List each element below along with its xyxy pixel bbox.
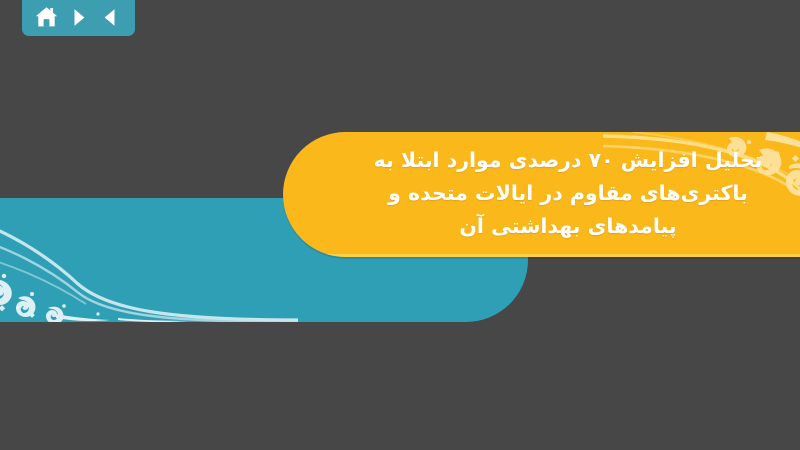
slide-title: تحلیل افزایش ۷۰ درصدی موارد ابتلا به باک…: [283, 132, 800, 257]
previous-arrow-icon: [100, 7, 121, 28]
home-icon: [35, 6, 58, 28]
title-line-2: باکتری‌های مقاوم در ایالات متحده و: [388, 177, 748, 210]
arabesque-ornament-icon: [0, 210, 300, 322]
home-button[interactable]: [35, 5, 59, 29]
title-line-3: پیامدهای بهداشتی آن: [459, 210, 676, 243]
navigation-bar: [22, 0, 135, 36]
next-arrow-icon: [68, 7, 89, 28]
title-line-1: تحلیل افزایش ۷۰ درصدی موارد ابتلا به: [374, 144, 763, 177]
back-button[interactable]: [98, 5, 122, 29]
presentation-slide: تحلیل افزایش ۷۰ درصدی موارد ابتلا به باک…: [0, 0, 800, 450]
title-banner: تحلیل افزایش ۷۰ درصدی موارد ابتلا به باک…: [283, 132, 800, 257]
forward-button[interactable]: [67, 5, 91, 29]
